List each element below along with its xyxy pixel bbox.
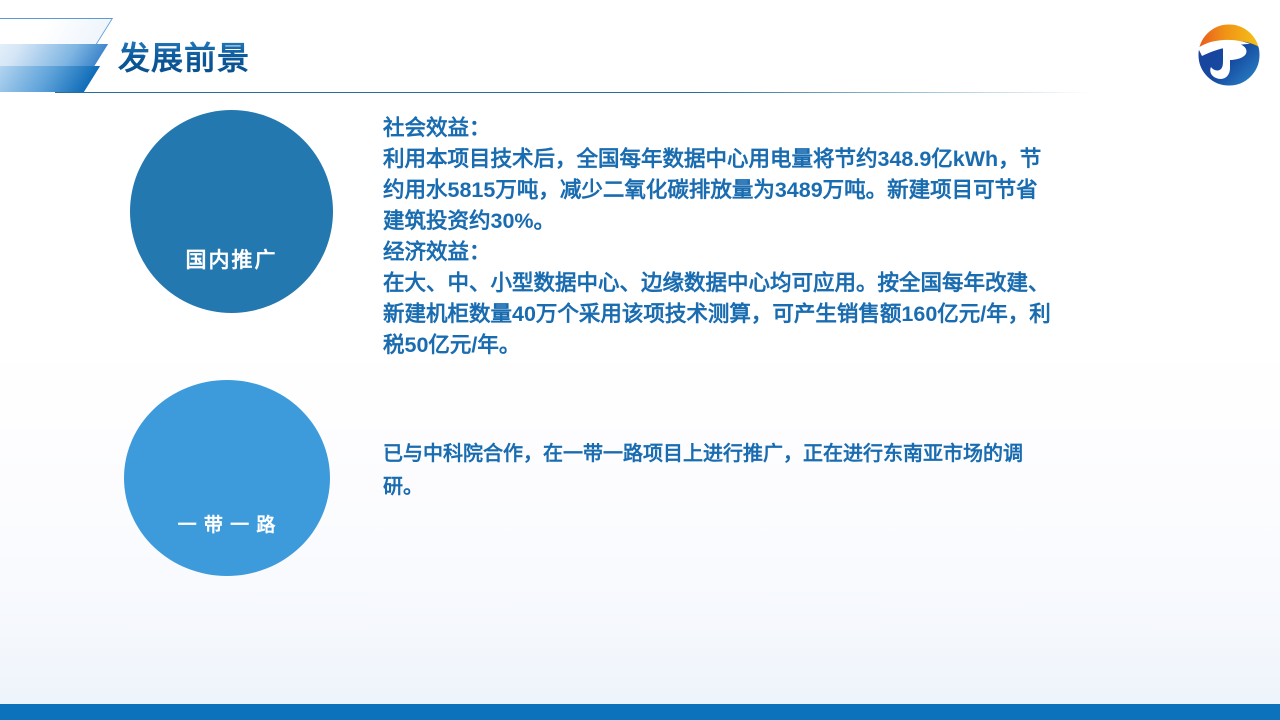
- content-block-belt-and-road: 已与中科院合作，在一带一路项目上进行推广，正在进行东南亚市场的调研。: [383, 438, 1055, 504]
- decoration-fill-shape-b: [0, 66, 100, 92]
- badge-circle-label: 一 带 一 路: [178, 510, 277, 537]
- page-title: 发展前景: [118, 33, 250, 79]
- badge-circle-domestic-promotion[interactable]: 国内推广: [130, 110, 333, 313]
- belt-and-road-text: 已与中科院合作，在一带一路项目上进行推广，正在进行东南亚市场的调研。: [383, 438, 1055, 504]
- slide-header: 发展前景: [0, 0, 1280, 95]
- social-benefit-text: 利用本项目技术后，全国每年数据中心用电量将节约348.9亿kWh，节约用水581…: [383, 144, 1055, 237]
- badge-circle-label: 国内推广: [186, 244, 278, 274]
- header-divider: [55, 92, 1090, 93]
- economic-benefit-text: 在大、中、小型数据中心、边缘数据中心均可应用。按全国每年改建、新建机柜数量40万…: [383, 268, 1055, 361]
- badge-circle-belt-and-road[interactable]: 一 带 一 路: [124, 380, 330, 576]
- economic-benefit-heading: 经济效益：: [383, 237, 1055, 268]
- slide: 发展前景: [0, 0, 1280, 720]
- footer-bar: [0, 704, 1280, 720]
- company-logo-icon: [1196, 22, 1262, 88]
- social-benefit-heading: 社会效益：: [383, 113, 1055, 144]
- content-block-benefits: 社会效益： 利用本项目技术后，全国每年数据中心用电量将节约348.9亿kWh，节…: [383, 113, 1055, 361]
